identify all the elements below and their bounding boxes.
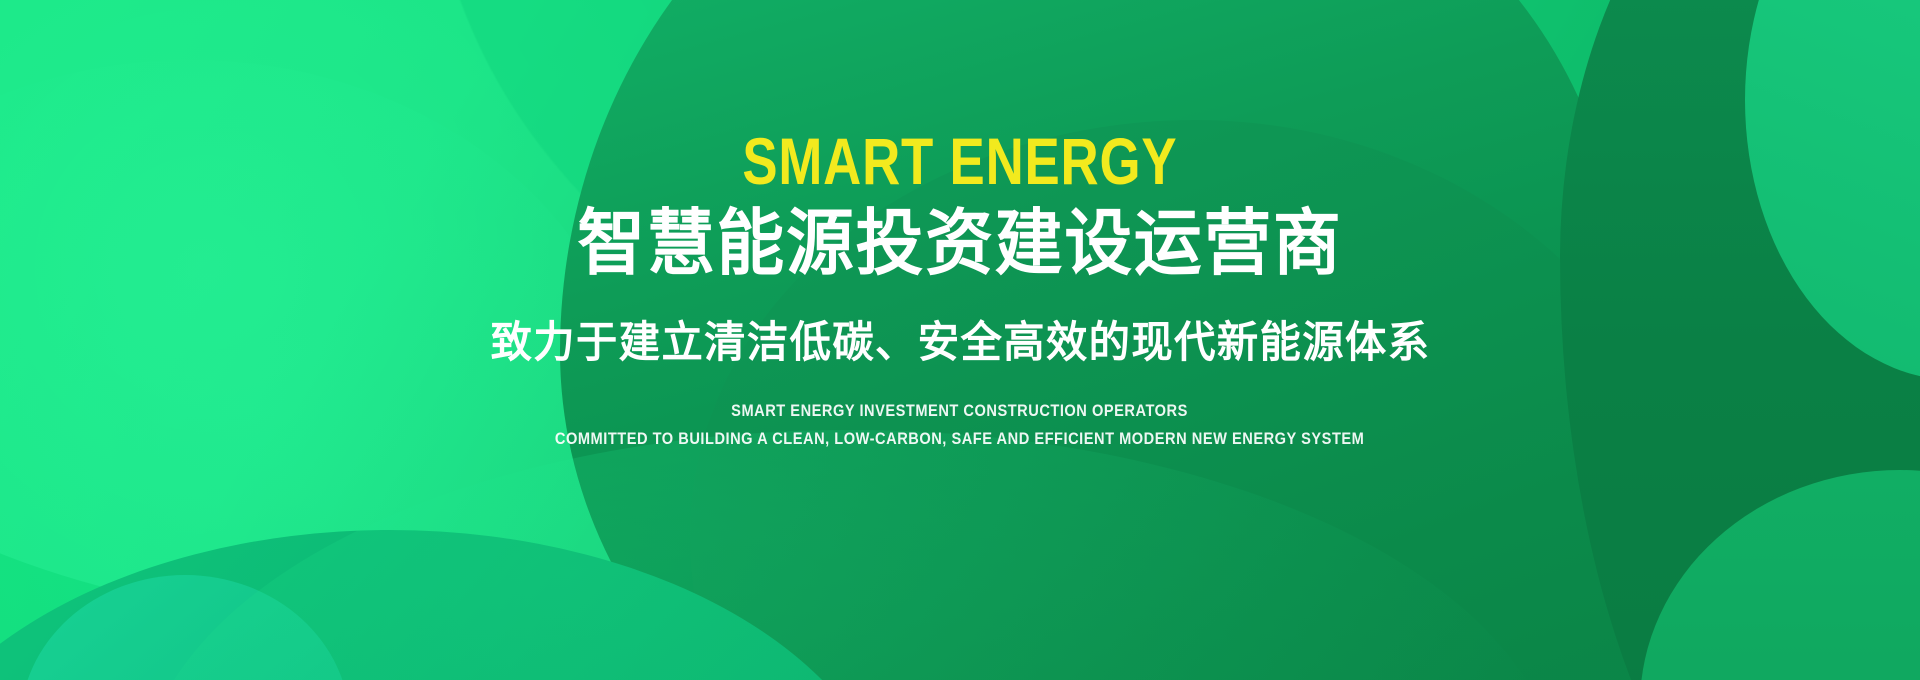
banner-title-english: SMART ENERGY bbox=[743, 128, 1178, 194]
banner-title-chinese: 智慧能源投资建设运营商 bbox=[577, 206, 1342, 282]
banner-content: SMART ENERGY 智慧能源投资建设运营商 致力于建立清洁低碳、安全高效的… bbox=[0, 0, 1920, 680]
banner-subtitle-english-line2: COMMITTED TO BUILDING A CLEAN, LOW-CARBO… bbox=[555, 426, 1364, 452]
banner-tagline-chinese: 致力于建立清洁低碳、安全高效的现代新能源体系 bbox=[490, 320, 1430, 367]
banner-subtitle-english-line1: SMART ENERGY INVESTMENT CONSTRUCTION OPE… bbox=[732, 398, 1189, 424]
hero-banner: SMART ENERGY 智慧能源投资建设运营商 致力于建立清洁低碳、安全高效的… bbox=[0, 0, 1920, 680]
